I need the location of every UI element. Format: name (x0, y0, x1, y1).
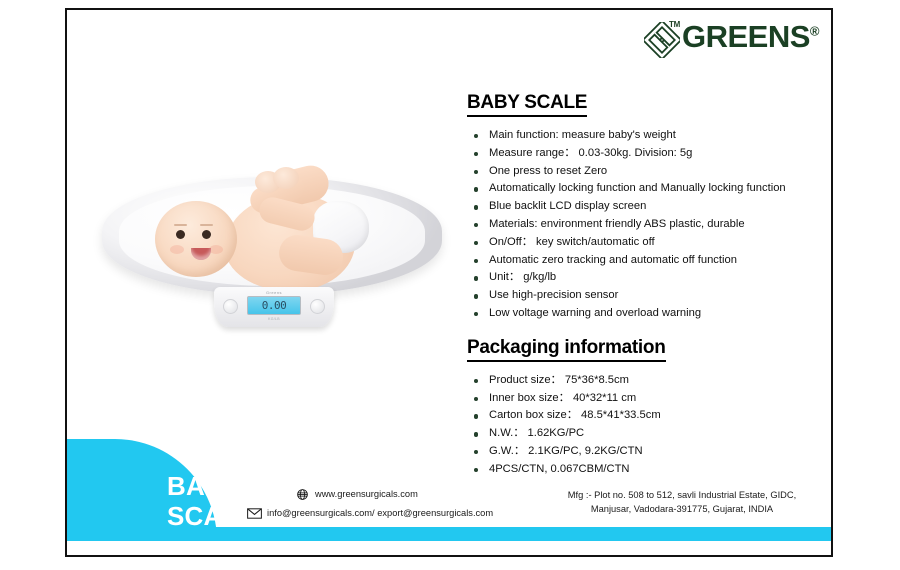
trademark-symbol: TM (669, 20, 680, 29)
baby-illustration (147, 165, 397, 305)
product-sheet: TM GREENS® (65, 8, 833, 557)
footer: www.greensurgicals.com info@greensurgica… (67, 483, 831, 541)
envelope-icon (247, 506, 262, 521)
packaging-title: Packaging information (467, 337, 666, 362)
baby-eye-left (176, 230, 185, 239)
footer-accent-bar (67, 527, 831, 541)
website-row[interactable]: www.greensurgicals.com (247, 485, 547, 504)
lcd-weight-value: 0.00 (262, 299, 287, 312)
baby-mouth (191, 248, 211, 260)
baby-brow-right (200, 224, 213, 226)
lcd-display: 0.00 (247, 296, 301, 315)
scale-button-left[interactable] (223, 299, 238, 314)
list-item: Automatically locking function and Manua… (467, 180, 817, 198)
feature-list: Main function: measure baby's weight Mea… (467, 127, 817, 323)
list-item: Blue backlit LCD display screen (467, 198, 817, 216)
scale-button-right[interactable] (310, 299, 325, 314)
list-item: G.W.： 2.1KG/PC, 9.2KG/CTN (467, 443, 817, 461)
brand-name-text: GREENS (682, 19, 810, 54)
baby-foot-right (273, 167, 299, 189)
list-item: Materials: environment friendly ABS plas… (467, 216, 817, 234)
page-root: TM GREENS® (0, 0, 900, 570)
footer-contact-block: www.greensurgicals.com info@greensurgica… (247, 485, 547, 523)
list-item: Inner box size： 40*32*11 cm (467, 390, 817, 408)
list-item: Measure range： 0.03-30kg. Division: 5g (467, 145, 817, 163)
list-item: Carton box size： 48.5*41*33.5cm (467, 407, 817, 425)
list-item: Main function: measure baby's weight (467, 127, 817, 145)
list-item: On/Off： key switch/automatic off (467, 234, 817, 252)
list-item: Product size： 75*36*8.5cm (467, 372, 817, 390)
email-row[interactable]: info@greensurgicals.com/ export@greensur… (247, 504, 547, 523)
list-item: Low voltage warning and overload warning (467, 305, 817, 323)
email-text: info@greensurgicals.com/ export@greensur… (267, 504, 493, 523)
baby-head (155, 201, 237, 277)
brand-wordmark: GREENS® (682, 18, 819, 56)
baby-brow-left (174, 224, 187, 226)
baby-cheek-right (209, 245, 223, 254)
list-item: Unit： g/kg/lb (467, 269, 817, 287)
list-item: 4PCS/CTN, 0.067CBM/CTN (467, 461, 817, 479)
product-image: Greens 0.00 KG/LB (92, 165, 452, 355)
page-title: BABY SCALE (467, 92, 587, 117)
greens-maze-s-logo-icon: TM (644, 22, 680, 58)
address-line-2: Manjusar, Vadodara-391775, Gujarat, INDI… (537, 503, 827, 517)
lcd-unit-label: KG/LB (268, 317, 280, 321)
list-item: Use high-precision sensor (467, 287, 817, 305)
globe-icon (295, 487, 310, 502)
brand-logo: TM GREENS® (644, 18, 819, 62)
scale-brand-label: Greens (266, 290, 282, 295)
list-item: One press to reset Zero (467, 163, 817, 181)
address-line-1: Mfg :- Plot no. 508 to 512, savli Indust… (537, 489, 827, 503)
baby-eye-right (202, 230, 211, 239)
list-item: Automatic zero tracking and automatic of… (467, 252, 817, 270)
scale-base-unit: Greens 0.00 KG/LB (214, 287, 334, 327)
specifications-panel: BABY SCALE Main function: measure baby's… (467, 92, 817, 479)
registered-symbol: ® (810, 24, 819, 39)
list-item: N.W.： 1.62KG/PC (467, 425, 817, 443)
manufacturer-address: Mfg :- Plot no. 508 to 512, savli Indust… (537, 489, 827, 516)
baby-cheek-left (170, 245, 184, 254)
website-text: www.greensurgicals.com (315, 485, 418, 504)
packaging-list: Product size： 75*36*8.5cm Inner box size… (467, 372, 817, 479)
